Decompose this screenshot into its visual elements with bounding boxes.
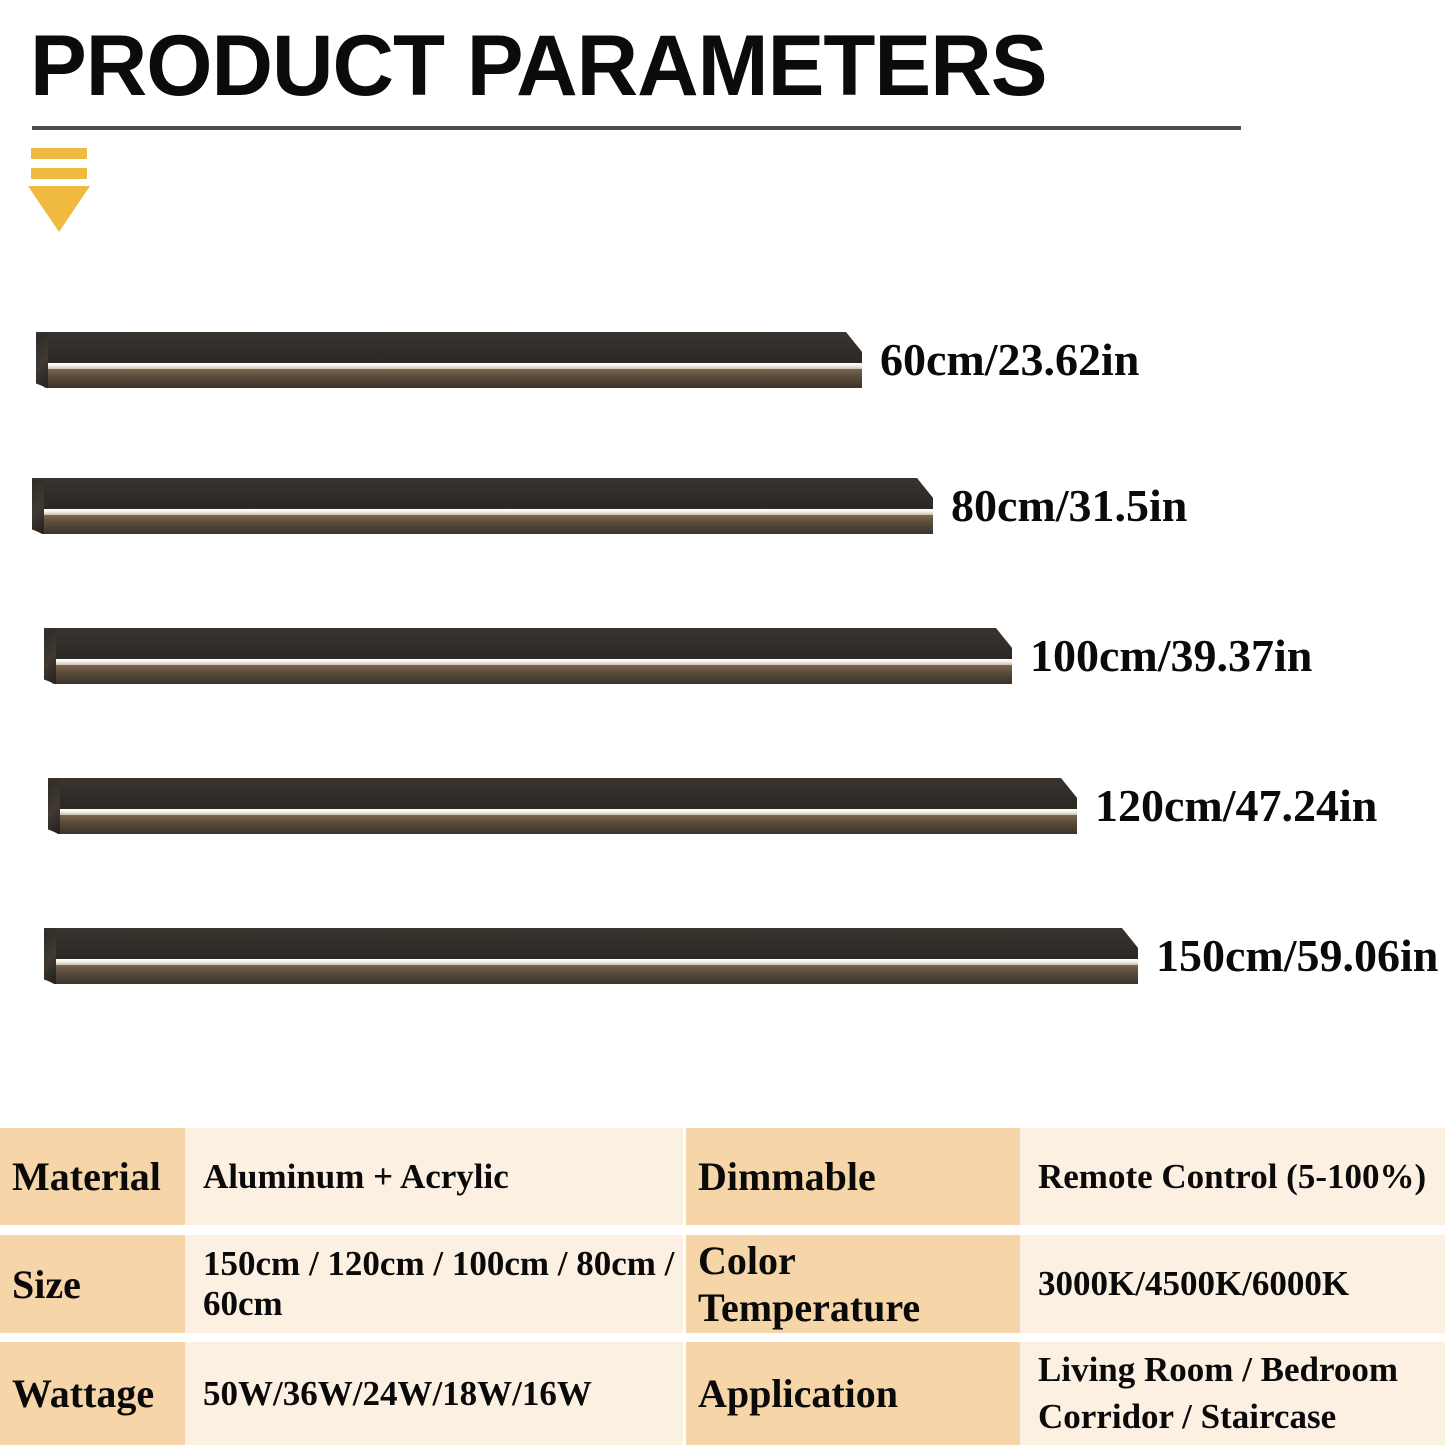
spec-left-label: Wattage — [0, 1342, 185, 1445]
spec-left-value: Aluminum + Acrylic — [185, 1128, 683, 1225]
led-bar-bottom-face — [44, 665, 1012, 684]
led-bar-bottom-face — [36, 369, 862, 388]
spec-right-value: Remote Control (5-100%) — [1020, 1128, 1445, 1225]
spec-table: MaterialAluminum + AcrylicDimmableRemote… — [0, 1128, 1445, 1445]
spec-row: MaterialAluminum + AcrylicDimmableRemote… — [0, 1128, 1445, 1225]
page-title: PRODUCT PARAMETERS — [30, 14, 1046, 118]
spec-right-label: Dimmable — [686, 1128, 1020, 1225]
led-bar-graphic — [32, 478, 933, 534]
product-size-label: 100cm/39.37in — [1030, 633, 1312, 679]
product-size-row: 80cm/31.5in — [0, 468, 1445, 544]
title-divider — [32, 126, 1241, 130]
spec-row: Wattage50W/36W/24W/18W/16WApplicationLiv… — [0, 1342, 1445, 1445]
led-bar-top-face — [48, 778, 1077, 810]
led-bar-diffuser — [44, 959, 1138, 966]
led-bar-bottom-face — [48, 815, 1077, 834]
spec-left-value: 150cm / 120cm / 100cm / 80cm / 60cm — [185, 1235, 683, 1333]
led-bar-diffuser — [44, 659, 1012, 666]
spec-value-multiline: Living Room / BedroomCorridor / Staircas… — [1038, 1347, 1398, 1439]
product-size-label: 80cm/31.5in — [951, 483, 1187, 529]
product-size-row: 60cm/23.62in — [0, 322, 1445, 398]
spec-right-label: Application — [686, 1342, 1020, 1445]
arrow-triangle — [28, 186, 90, 232]
led-bar-top-face — [36, 332, 862, 364]
led-bar-bottom-face — [44, 965, 1138, 984]
arrow-bar-top — [31, 148, 87, 159]
led-bar-graphic — [48, 778, 1077, 834]
product-size-row: 120cm/47.24in — [0, 768, 1445, 844]
spec-left-value: 50W/36W/24W/18W/16W — [185, 1342, 683, 1445]
spec-right-value: 3000K/4500K/6000K — [1020, 1235, 1445, 1333]
product-size-list: 60cm/23.62in80cm/31.5in100cm/39.37in120c… — [0, 300, 1445, 1090]
led-bar-diffuser — [32, 509, 933, 516]
led-bar-graphic — [36, 332, 862, 388]
led-bar-graphic — [44, 628, 1012, 684]
led-bar-bottom-face — [32, 515, 933, 534]
product-size-label: 60cm/23.62in — [880, 337, 1139, 383]
led-bar-top-face — [32, 478, 933, 510]
spec-value-line: Corridor / Staircase — [1038, 1394, 1398, 1440]
header: PRODUCT PARAMETERS — [0, 0, 1445, 260]
spec-right-label: Color Temperature — [686, 1235, 1020, 1333]
led-bar-end-cap — [44, 928, 56, 984]
led-bar-top-face — [44, 928, 1138, 960]
led-bar-graphic — [44, 928, 1138, 984]
led-bar-diffuser — [48, 809, 1077, 816]
product-size-label: 150cm/59.06in — [1156, 933, 1438, 979]
spec-value-line: Living Room / Bedroom — [1038, 1347, 1398, 1393]
product-size-row: 150cm/59.06in — [0, 918, 1445, 994]
spec-right-value: Living Room / BedroomCorridor / Staircas… — [1020, 1342, 1445, 1445]
led-bar-diffuser — [36, 363, 862, 370]
led-bar-top-face — [44, 628, 1012, 660]
spec-row: Size150cm / 120cm / 100cm / 80cm / 60cmC… — [0, 1235, 1445, 1333]
spec-left-label: Material — [0, 1128, 185, 1225]
product-size-label: 120cm/47.24in — [1095, 783, 1377, 829]
led-bar-end-cap — [32, 478, 44, 534]
arrow-bar-middle — [31, 168, 87, 179]
led-bar-end-cap — [48, 778, 60, 834]
product-size-row: 100cm/39.37in — [0, 618, 1445, 694]
led-bar-end-cap — [44, 628, 56, 684]
spec-left-label: Size — [0, 1235, 185, 1333]
led-bar-end-cap — [36, 332, 48, 388]
scroll-down-arrow-icon — [26, 148, 92, 234]
